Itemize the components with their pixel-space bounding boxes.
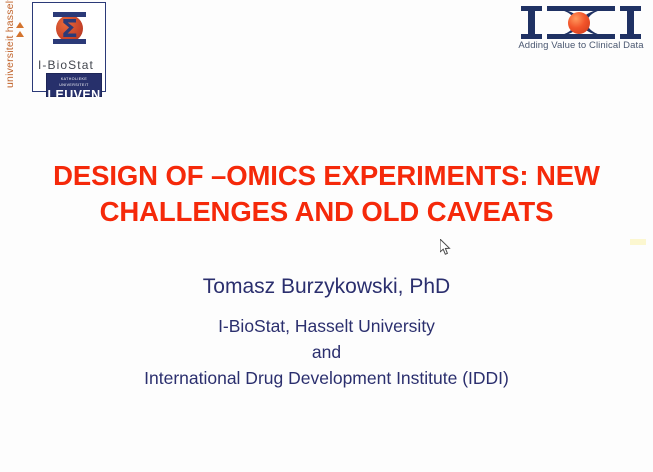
affiliation-block: I-BioStat, Hasselt University and Intern… [0, 313, 653, 391]
affiliation-line-1: I-BioStat, Hasselt University [0, 313, 653, 339]
hasselt-university-logo: universiteit hasselt Σ I-BioStat KATHOLI… [14, 2, 114, 98]
ibiostat-label: I-BioStat [38, 58, 94, 72]
iddi-letter-i-left [521, 6, 541, 39]
iddi-letter-i-right [620, 6, 640, 39]
author-name: Tomasz Burzykowski, PhD [0, 274, 653, 300]
katholieke-universiteit-label: KATHOLIEKE UNIVERSITEIT [47, 74, 101, 88]
iddi-wordmark-icon [521, 6, 641, 39]
leuven-label: LEUVEN [47, 88, 101, 102]
yellow-artifact [630, 239, 646, 245]
affiliation-line-2: and [0, 339, 653, 365]
mouse-cursor-icon [440, 239, 452, 256]
sigma-emblem-icon: Σ [52, 8, 88, 48]
affiliation-line-3: International Drug Development Institute… [0, 365, 653, 391]
universiteit-hasselt-vertical-text: universiteit hasselt [4, 12, 20, 88]
presentation-slide: universiteit hasselt Σ I-BioStat KATHOLI… [0, 0, 653, 472]
iddi-logo: Adding Value to Clinical Data [515, 4, 647, 56]
iddi-orange-sphere [568, 12, 590, 34]
slide-title: DESIGN OF –OMICS EXPERIMENTS: NEW CHALLE… [18, 158, 635, 230]
iddi-tagline: Adding Value to Clinical Data [515, 40, 647, 51]
iddi-double-d-lens [547, 6, 615, 39]
sigma-glyph: Σ [60, 17, 79, 40]
ku-leuven-logo: KATHOLIEKE UNIVERSITEIT LEUVEN [46, 73, 102, 97]
